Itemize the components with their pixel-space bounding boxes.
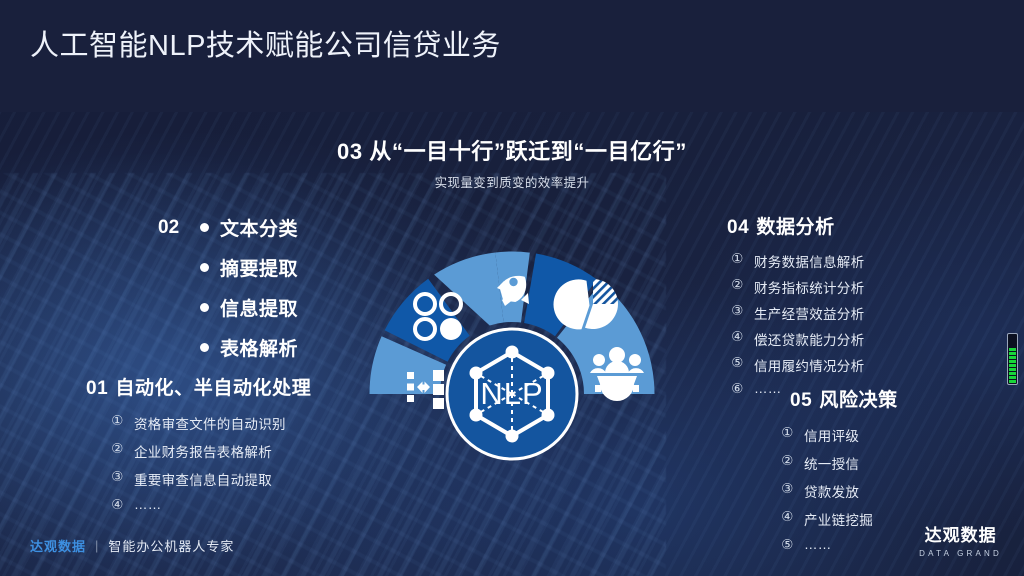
block-01-heading: 自动化、半自动化处理 xyxy=(115,378,311,399)
list-marker: ① xyxy=(730,251,745,271)
list-item: ① 财务数据信息解析 xyxy=(730,251,864,271)
list-item-label: 信用评级 xyxy=(804,425,859,445)
list-item: ③ 贷款发放 xyxy=(780,481,898,501)
list-item-label: 信用履约情况分析 xyxy=(754,355,864,375)
footer-left: 达观数据 | 智能办公机器人专家 xyxy=(30,536,234,555)
list-marker: ⑤ xyxy=(730,355,745,375)
block-04-heading: 数据分析 xyxy=(756,217,834,238)
block-04-list: ① 财务数据信息解析 ② 财务指标统计分析 ③ 生产经营效益分析 ④ 偿还贷款能… xyxy=(730,251,864,397)
meter-bar xyxy=(1009,348,1016,351)
list-marker: ④ xyxy=(110,497,125,513)
meter-bar xyxy=(1009,368,1016,371)
bullet-dot-icon xyxy=(200,263,209,272)
list-marker: ③ xyxy=(780,481,795,501)
list-item-label: …… xyxy=(804,537,832,553)
meter-bar xyxy=(1009,380,1016,383)
list-item: ④ 偿还贷款能力分析 xyxy=(730,329,864,349)
center-subtitle: 实现量变到质变的效率提升 xyxy=(0,172,1024,191)
block-05: 05风险决策 ① 信用评级 ② 统一授信 ③ 贷款发放 ④ 产业链挖掘 ⑤ …… xyxy=(790,385,898,561)
list-item-label: 贷款发放 xyxy=(804,481,859,501)
bullet-dot-icon xyxy=(200,303,209,312)
list-item-label: 企业财务报告表格解析 xyxy=(134,441,272,461)
block-01-number: 01 xyxy=(86,378,108,399)
block-04-number: 04 xyxy=(727,217,749,238)
list-item-label: 资格审查文件的自动识别 xyxy=(134,413,286,433)
list-item: ① 资格审查文件的自动识别 xyxy=(110,413,311,433)
block-05-header: 05风险决策 xyxy=(790,385,898,412)
list-marker: ③ xyxy=(730,303,745,323)
nlp-wheel-diagram: NLP xyxy=(362,236,662,471)
center-heading: 03 从“一目十行”跃迁到“一目亿行” xyxy=(0,134,1024,166)
list-item-label: 信息提取 xyxy=(220,294,298,321)
page-title: 人工智能NLP技术赋能公司信贷业务 xyxy=(30,22,501,64)
block-05-number: 05 xyxy=(790,390,812,411)
list-item-label: 产业链挖掘 xyxy=(804,509,873,529)
list-item: ⑤ …… xyxy=(780,537,898,553)
meter-bar xyxy=(1009,336,1016,339)
block-04-header: 04数据分析 xyxy=(727,212,864,239)
list-marker: ① xyxy=(780,425,795,445)
list-marker: ④ xyxy=(780,509,795,529)
list-item-label: 表格解析 xyxy=(220,334,298,361)
list-item: ② 企业财务报告表格解析 xyxy=(110,441,311,461)
meter-bar xyxy=(1009,352,1016,355)
block-05-list: ① 信用评级 ② 统一授信 ③ 贷款发放 ④ 产业链挖掘 ⑤ …… xyxy=(780,425,898,553)
list-item-label: 财务数据信息解析 xyxy=(754,251,864,271)
list-item: ④ 产业链挖掘 xyxy=(780,509,898,529)
list-marker: ② xyxy=(780,453,795,473)
list-item: 信息提取 xyxy=(200,294,298,321)
list-item: ③ 重要审查信息自动提取 xyxy=(110,469,311,489)
list-item-label: 偿还贷款能力分析 xyxy=(754,329,864,349)
list-marker: ⑤ xyxy=(780,537,795,553)
brand-logo-en: DATA GRAND xyxy=(919,549,1002,558)
list-item: 文本分类 xyxy=(200,214,298,241)
block-01: 01自动化、半自动化处理 ① 资格审查文件的自动识别 ② 企业财务报告表格解析 … xyxy=(86,373,311,521)
block-01-list: ① 资格审查文件的自动识别 ② 企业财务报告表格解析 ③ 重要审查信息自动提取 … xyxy=(110,413,311,513)
list-item-label: 财务指标统计分析 xyxy=(754,277,864,297)
brand-logo: 达观数据 DATA GRAND xyxy=(919,521,1002,558)
block-02-list: 文本分类 摘要提取 信息提取 表格解析 xyxy=(200,214,298,361)
meter-bar xyxy=(1009,364,1016,367)
list-item: ② 财务指标统计分析 xyxy=(730,277,864,297)
list-item: 摘要提取 xyxy=(200,254,298,281)
slide-canvas: 人工智能NLP技术赋能公司信贷业务 03 从“一目十行”跃迁到“一目亿行” 实现… xyxy=(0,0,1024,576)
level-meter[interactable] xyxy=(1007,333,1018,385)
footer-tagline: 智能办公机器人专家 xyxy=(108,536,234,555)
meter-bar xyxy=(1009,356,1016,359)
meter-bar xyxy=(1009,372,1016,375)
list-marker: ② xyxy=(110,441,125,461)
list-item-label: …… xyxy=(134,497,162,513)
meter-bar xyxy=(1009,376,1016,379)
list-marker: ① xyxy=(110,413,125,433)
footer-separator: | xyxy=(95,538,99,553)
list-marker: ④ xyxy=(730,329,745,349)
meter-bar xyxy=(1009,344,1016,347)
brand-logo-cn: 达观数据 xyxy=(919,521,1002,546)
list-item-label: 文本分类 xyxy=(220,214,298,241)
bullet-dot-icon xyxy=(200,343,209,352)
list-marker: ⑥ xyxy=(730,381,745,397)
block-04: 04数据分析 ① 财务数据信息解析 ② 财务指标统计分析 ③ 生产经营效益分析 … xyxy=(727,212,864,403)
list-item: ② 统一授信 xyxy=(780,453,898,473)
nlp-center-label: NLP xyxy=(480,376,543,411)
list-item: ③ 生产经营效益分析 xyxy=(730,303,864,323)
footer-brand: 达观数据 xyxy=(30,536,86,555)
list-item: 表格解析 xyxy=(200,334,298,361)
list-item-label: 生产经营效益分析 xyxy=(754,303,864,323)
block-01-header: 01自动化、半自动化处理 xyxy=(86,373,311,400)
list-marker: ③ xyxy=(110,469,125,489)
bullet-dot-icon xyxy=(200,223,209,232)
meter-bar xyxy=(1009,340,1016,343)
list-item: ⑤ 信用履约情况分析 xyxy=(730,355,864,375)
list-item: ① 信用评级 xyxy=(780,425,898,445)
block-05-heading: 风险决策 xyxy=(819,390,897,411)
meter-bar xyxy=(1009,360,1016,363)
list-marker: ② xyxy=(730,277,745,297)
list-item-label: 摘要提取 xyxy=(220,254,298,281)
list-item-label: …… xyxy=(754,381,782,397)
list-item-label: 重要审查信息自动提取 xyxy=(134,469,272,489)
list-item-label: 统一授信 xyxy=(804,453,859,473)
block-02-number: 02 xyxy=(158,217,179,239)
block-02: 02 文本分类 摘要提取 信息提取 表格解析 xyxy=(158,214,298,374)
list-item: ④ …… xyxy=(110,497,311,513)
